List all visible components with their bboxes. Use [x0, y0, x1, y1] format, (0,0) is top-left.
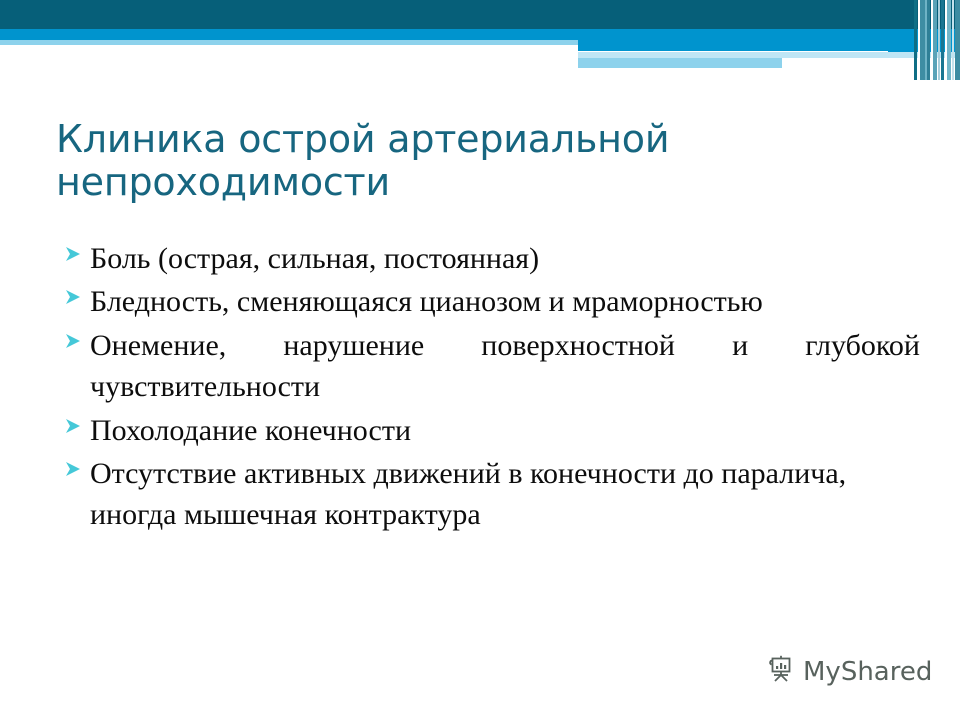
header-band-medium — [0, 29, 960, 40]
list-item: Боль (острая, сильная, постоянная) — [64, 238, 920, 279]
header-stripe-10 — [947, 0, 951, 80]
header-band-dark — [0, 0, 960, 29]
header-stripe-11 — [952, 0, 954, 80]
header-vertical-stripes — [914, 0, 960, 80]
watermark-brand-text: MyShared — [803, 657, 932, 687]
bullet-list: Боль (острая, сильная, постоянная) Бледн… — [64, 238, 920, 538]
header-stripe-0 — [914, 0, 917, 80]
arrow-bullet-icon — [64, 325, 90, 350]
list-item: Похолодание конечности — [64, 410, 920, 451]
presentation-board-icon — [766, 654, 796, 689]
arrow-bullet-icon — [64, 281, 90, 306]
header-stripe-12 — [955, 0, 960, 80]
list-item: Онемение, нарушение поверхностной и глуб… — [64, 325, 920, 408]
arrow-bullet-icon — [64, 238, 90, 263]
page-title: Клиника острой артериальной непроходимос… — [56, 118, 756, 205]
list-item-text: Онемение, нарушение поверхностной и глуб… — [90, 325, 920, 408]
list-item: Бледность, сменяющаяся цианозом и мрамор… — [64, 281, 920, 322]
header-stripe-7 — [938, 0, 940, 80]
header-stripe-6 — [933, 0, 937, 80]
list-item-text: Боль (острая, сильная, постоянная) — [90, 238, 920, 279]
list-item-text: Похолодание конечности — [90, 410, 920, 451]
list-item-text: Бледность, сменяющаяся цианозом и мрамор… — [90, 281, 920, 322]
myshared-watermark: MyShared — [766, 654, 932, 689]
list-item: Отсутствие активных движений в конечност… — [64, 453, 920, 536]
header-stripe-4 — [927, 0, 930, 80]
arrow-bullet-icon — [64, 453, 90, 478]
list-item-text: Отсутствие активных движений в конечност… — [90, 453, 920, 536]
header-stripe-8 — [941, 0, 944, 80]
slide-header-decoration — [0, 0, 960, 80]
arrow-bullet-icon — [64, 410, 90, 435]
header-band-notch-lower — [578, 68, 960, 80]
